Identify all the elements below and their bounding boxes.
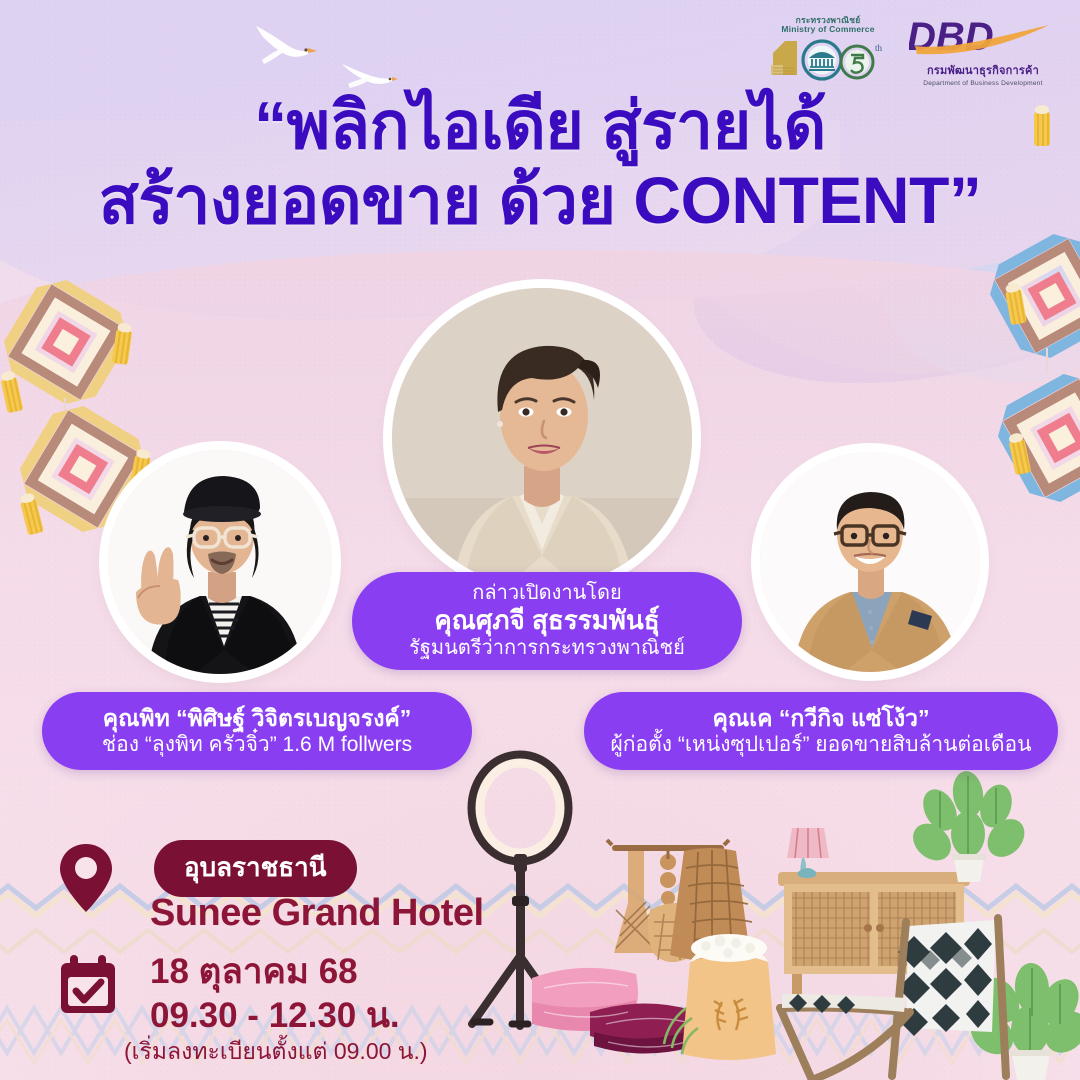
speaker-badge-left: คุณพิท “พิศิษฐ์ วิจิตรเบญจรงค์” ช่อง “ลุ…	[42, 692, 472, 770]
center-speaker-position: รัฐมนตรีว่าการกระทรวงพาณิชย์	[370, 636, 724, 660]
title-line-2: สร้างยอดขาย ด้วย CONTENT”	[0, 163, 1080, 238]
left-speaker-detail: ช่อง “ลุงพิท ครัวจิ๋ว” 1.6 M follwers	[56, 732, 458, 758]
dbd-logo: DBD กรมพัฒนาธุรกิจการค้า Department of B…	[908, 16, 1058, 87]
dbd-thai-label: กรมพัฒนาธุรกิจการค้า	[927, 61, 1039, 79]
center-speaker-name: คุณศุภจี สุธรรมพันธุ์	[370, 605, 724, 636]
ministry-english-label: Ministry of Commerce	[781, 25, 874, 34]
ministry-of-commerce-logo: กระทรวงพาณิชย์ Ministry of Commerce	[764, 16, 892, 81]
left-speaker-name: คุณพิท “พิศิษฐ์ วิจิตรเบญจรงค์”	[56, 704, 458, 733]
folded-fabric-illustration	[532, 968, 693, 1054]
event-poster: กระทรวงพาณิชย์ Ministry of Commerce	[0, 0, 1080, 1080]
bottom-illustration	[440, 750, 1080, 1080]
speaker-photo-center	[392, 288, 692, 588]
right-speaker-detail: ผู้ก่อตั้ง “เหน่งซุปเปอร์” ยอดขายสิบล้าน…	[598, 732, 1044, 758]
event-venue: Sunee Grand Hotel	[150, 892, 484, 935]
event-city-badge: อุบลราชธานี	[154, 840, 357, 897]
speaker-badge-right: คุณเค “กวีกิจ แซ่โง้ว” ผู้ก่อตั้ง “เหน่ง…	[584, 692, 1058, 770]
title-line-1: “พลิกไอเดีย สู่รายได้	[0, 88, 1080, 163]
dbd-acronym-mark: DBD	[909, 16, 1057, 60]
ministry-anniversary-mark: th	[765, 35, 891, 81]
location-pin-icon	[58, 842, 114, 914]
anniversary-suffix: th	[875, 43, 883, 53]
bird-icon	[252, 20, 318, 68]
logo-group: กระทรวงพาณิชย์ Ministry of Commerce	[764, 16, 1058, 87]
dbd-english-label: Department of Business Development	[923, 80, 1043, 87]
event-registration-note: (เริ่มลงทะเบียนตั้งแต่ 09.00 น.)	[124, 1034, 428, 1070]
poster-title: “พลิกไอเดีย สู่รายได้ สร้างยอดขาย ด้วย C…	[0, 88, 1080, 238]
center-speaker-role: กล่าวเปิดงานโดย	[370, 582, 724, 606]
speaker-photo-right	[760, 452, 980, 672]
right-speaker-name: คุณเค “กวีกิจ แซ่โง้ว”	[598, 704, 1044, 733]
table-lamp-illustration	[787, 828, 829, 878]
calendar-check-icon	[58, 954, 118, 1016]
speaker-badge-center: กล่าวเปิดงานโดย คุณศุภจี สุธรรมพันธุ์ รั…	[352, 572, 742, 670]
speaker-photo-left	[108, 450, 332, 674]
plant-illustration-top	[906, 769, 1032, 882]
